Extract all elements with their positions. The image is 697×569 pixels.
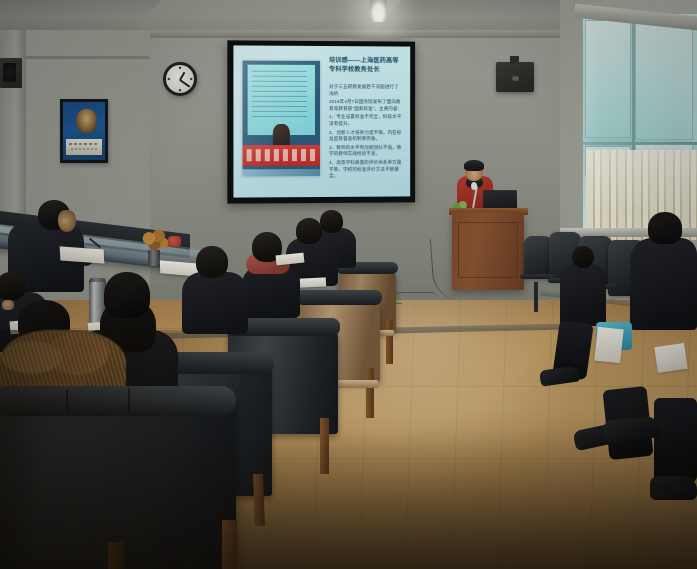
chair-leg (366, 368, 374, 418)
slide-photo-floor (243, 169, 320, 176)
slide-bullet: 3、教师的水平和创新团队不强，教学的教师实践经验不足。 (329, 145, 403, 158)
floor-shadow-foreground (0, 430, 697, 569)
attendee-head (296, 218, 322, 244)
attendee-paper (594, 327, 623, 364)
portrait-nameplate (66, 139, 102, 155)
attendee-head (572, 246, 594, 268)
microphone-head (471, 182, 477, 190)
portrait-background (63, 102, 105, 160)
slide-text-block: 培训感——上海医药高等专科学校教务处长 对于三五职教发展若干问题进行了浅析 20… (329, 56, 403, 182)
podium (452, 212, 524, 290)
window-pane (635, 16, 693, 140)
chair-back (524, 236, 552, 278)
attendee-head (0, 272, 26, 300)
chair-leg (534, 282, 538, 312)
slide-title: 培训感——上海医药高等专科学校教务处长 (329, 56, 403, 74)
screen-surface: 培训感——上海医药高等专科学校教务处长 对于三五职教发展若干问题进行了浅析 20… (233, 45, 410, 197)
window-pane (585, 20, 631, 138)
slide-body: 对于三五职教发展若干问题进行了浅析 2016年4月7日国务院发布了面向教育等教育… (329, 84, 403, 180)
red-cup (168, 236, 181, 247)
note-paper (300, 277, 326, 287)
attendee-body (182, 272, 248, 334)
attendee-face (58, 210, 76, 232)
slide-photo-banner-text (247, 149, 316, 161)
attendee-paper (654, 343, 687, 373)
ceiling-light-fixture (370, 0, 387, 22)
slide-bullet: 对于三五职教发展若干问题进行了浅析 (329, 84, 403, 97)
slide-bullet: 4、高等学科质量的评价体系单方面不够，学校的标准评价方法不够健全。 (329, 160, 403, 180)
attendee-hand (2, 300, 14, 310)
attendee-head (104, 272, 150, 318)
attendee-head (196, 246, 228, 278)
wall-clock-icon (163, 62, 197, 96)
attendee-right (630, 238, 697, 330)
slide-bullet: 2016年4月7日国务院发布了面向教育等教育部"国家标准"，主要内容： (329, 99, 403, 112)
chair-leg (386, 320, 393, 364)
slide-embedded-photo (243, 61, 320, 177)
presenter-hat (464, 160, 484, 171)
flower-vase (148, 250, 160, 266)
speaker-right-icon (496, 62, 534, 92)
portrait-head (76, 109, 97, 133)
slide-bullet: 1、专业设置标准不完全，科技水平没有提升。 (329, 114, 403, 127)
podium-front-panel (458, 222, 518, 278)
attendee-right (560, 264, 606, 326)
speaker-mount (510, 56, 519, 64)
slide-bullet: 2、创新人才培养力度不够，内在标准监管督查机制要完备。 (329, 130, 403, 143)
attendee-head (320, 210, 343, 233)
attendee-head (648, 212, 682, 244)
speaker-cone (512, 76, 519, 81)
meeting-room-photo: 培训感——上海医药高等专科学校教务处长 对于三五职教发展若干问题进行了浅析 20… (0, 0, 697, 569)
presentation-slide: 培训感——上海医药高等专科学校教务处长 对于三五职教发展若干问题进行了浅析 20… (233, 45, 410, 197)
projection-screen: 培训感——上海医药高等专科学校教务处长 对于三五职教发展若干问题进行了浅析 20… (227, 40, 415, 203)
speaker-left-icon (0, 58, 22, 88)
slide-photo-screen-text (252, 71, 307, 121)
framed-portrait (60, 99, 108, 163)
chair-headroll (296, 290, 382, 305)
